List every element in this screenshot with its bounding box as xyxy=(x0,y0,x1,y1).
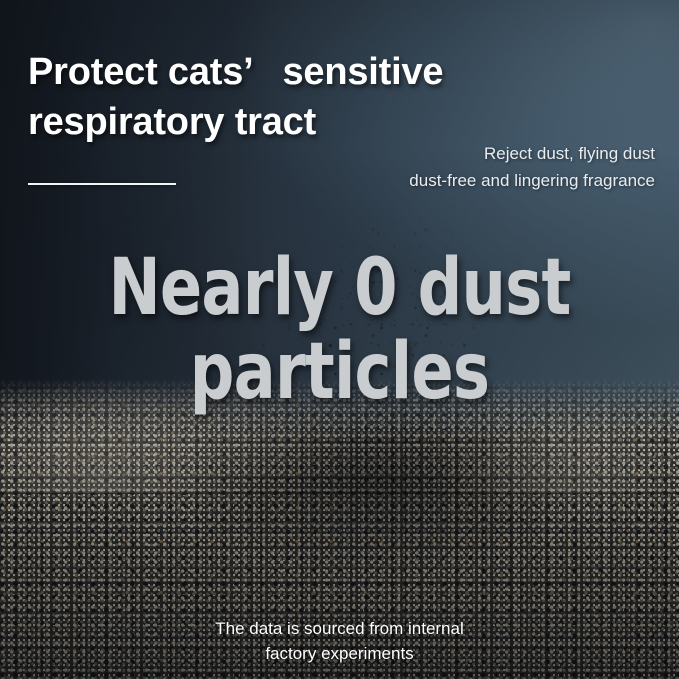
data-source-caption: The data is sourced from internal factor… xyxy=(0,616,679,666)
subtitle: Reject dust, flying dust dust-free and l… xyxy=(235,140,655,194)
headline: Protect cats’ sensitive respiratory trac… xyxy=(28,47,648,147)
product-feature-poster: Protect cats’ sensitive respiratory trac… xyxy=(0,0,679,679)
slogan-headline: Nearly 0 dust particles xyxy=(68,246,611,414)
divider-rule xyxy=(28,183,176,185)
